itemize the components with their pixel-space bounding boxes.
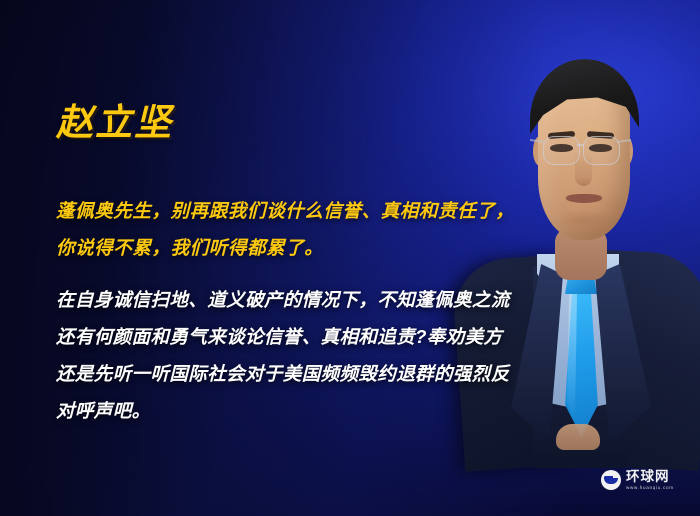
quote-card: 赵立坚 蓬佩奥先生，别再跟我们谈什么信誉、真相和责任了， 你说得不累，我们听得都…	[0, 0, 700, 516]
logo-name: 环球网	[626, 470, 674, 484]
glasses-lens-left	[543, 136, 580, 165]
glasses-bridge	[577, 144, 584, 146]
logo-text: 环球网 www.huanqiu.com	[626, 470, 674, 491]
quote-line: 你说得不累，我们听得都累了。	[56, 229, 526, 266]
globe-circle-icon	[601, 470, 621, 490]
chin-shadow	[555, 210, 613, 230]
body-line: 在自身诚信扫地、道义破产的情况下，不知蓬佩奥之流	[56, 281, 536, 318]
quote-block: 蓬佩奥先生，别再跟我们谈什么信誉、真相和责任了， 你说得不累，我们听得都累了。	[56, 192, 526, 266]
mouth	[566, 194, 602, 203]
quote-line: 蓬佩奥先生，别再跟我们谈什么信誉、真相和责任了，	[56, 192, 526, 229]
body-block: 在自身诚信扫地、道义破产的情况下，不知蓬佩奥之流 还有何颜面和勇气来谈论信誉、真…	[56, 281, 536, 429]
body-line: 对呼声吧。	[56, 392, 536, 429]
logo-url: www.huanqiu.com	[626, 486, 674, 491]
site-logo: 环球网 www.huanqiu.com	[601, 470, 674, 491]
speaker-name: 赵立坚	[56, 92, 173, 146]
glasses-lens-right	[583, 136, 620, 165]
body-line: 还有何颜面和勇气来谈论信誉、真相和追责?奉劝美方	[56, 318, 536, 355]
body-line: 还是先听一听国际社会对于美国频频毁约退群的强烈反	[56, 355, 536, 392]
hand	[556, 424, 600, 450]
